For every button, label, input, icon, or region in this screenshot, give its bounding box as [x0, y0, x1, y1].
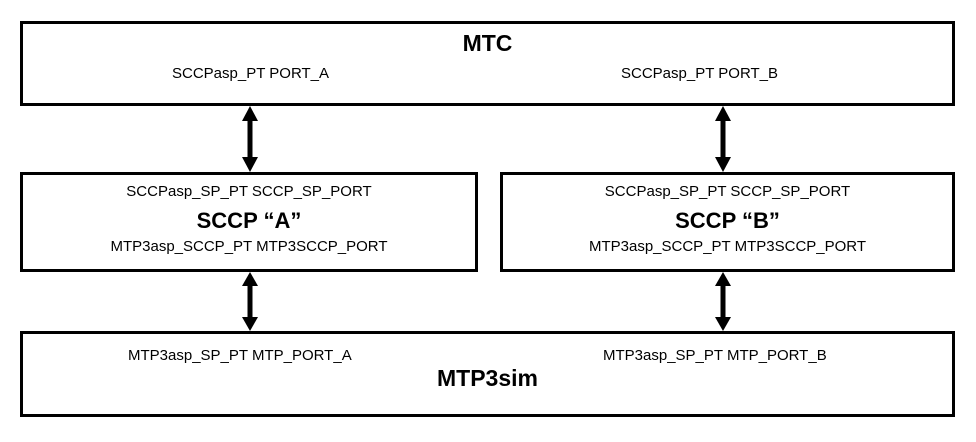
- double-arrow-icon: [711, 272, 735, 331]
- double-arrow-icon: [238, 106, 262, 172]
- diagram-canvas: MTC SCCPasp_PT PORT_A SCCPasp_PT PORT_B …: [0, 0, 976, 442]
- mtp3sim-title: MTP3sim: [23, 365, 952, 392]
- mtp3sim-port-label-b: MTP3asp_SP_PT MTP_PORT_B: [603, 347, 827, 364]
- component-box-sccp-b: SCCPasp_SP_PT SCCP_SP_PORT SCCP “B” MTP3…: [500, 172, 955, 272]
- sccp-a-upper-port-labels: SCCPasp_SP_PT SCCP_SP_PORT: [23, 183, 475, 200]
- connector-mtc-sccp-b: [711, 106, 735, 172]
- mtp3sim-port-label-a: MTP3asp_SP_PT MTP_PORT_A: [128, 347, 352, 364]
- mtc-title: MTC: [23, 30, 952, 57]
- double-arrow-icon: [711, 106, 735, 172]
- mtc-port-label-b: SCCPasp_PT PORT_B: [621, 65, 778, 82]
- connector-sccp-b-mtp3sim: [711, 272, 735, 331]
- sccp-b-title: SCCP “B”: [503, 208, 952, 234]
- connector-mtc-sccp-a: [238, 106, 262, 172]
- mtc-port-label-a: SCCPasp_PT PORT_A: [172, 65, 329, 82]
- component-box-mtc: MTC SCCPasp_PT PORT_A SCCPasp_PT PORT_B: [20, 21, 955, 106]
- sccp-a-lower-port-labels: MTP3asp_SCCP_PT MTP3SCCP_PORT: [23, 238, 475, 255]
- double-arrow-icon: [238, 272, 262, 331]
- sccp-a-title: SCCP “A”: [23, 208, 475, 234]
- sccp-b-lower-port-labels: MTP3asp_SCCP_PT MTP3SCCP_PORT: [503, 238, 952, 255]
- component-box-sccp-a: SCCPasp_SP_PT SCCP_SP_PORT SCCP “A” MTP3…: [20, 172, 478, 272]
- component-box-mtp3sim: MTP3asp_SP_PT MTP_PORT_A MTP3asp_SP_PT M…: [20, 331, 955, 417]
- connector-sccp-a-mtp3sim: [238, 272, 262, 331]
- sccp-b-upper-port-labels: SCCPasp_SP_PT SCCP_SP_PORT: [503, 183, 952, 200]
